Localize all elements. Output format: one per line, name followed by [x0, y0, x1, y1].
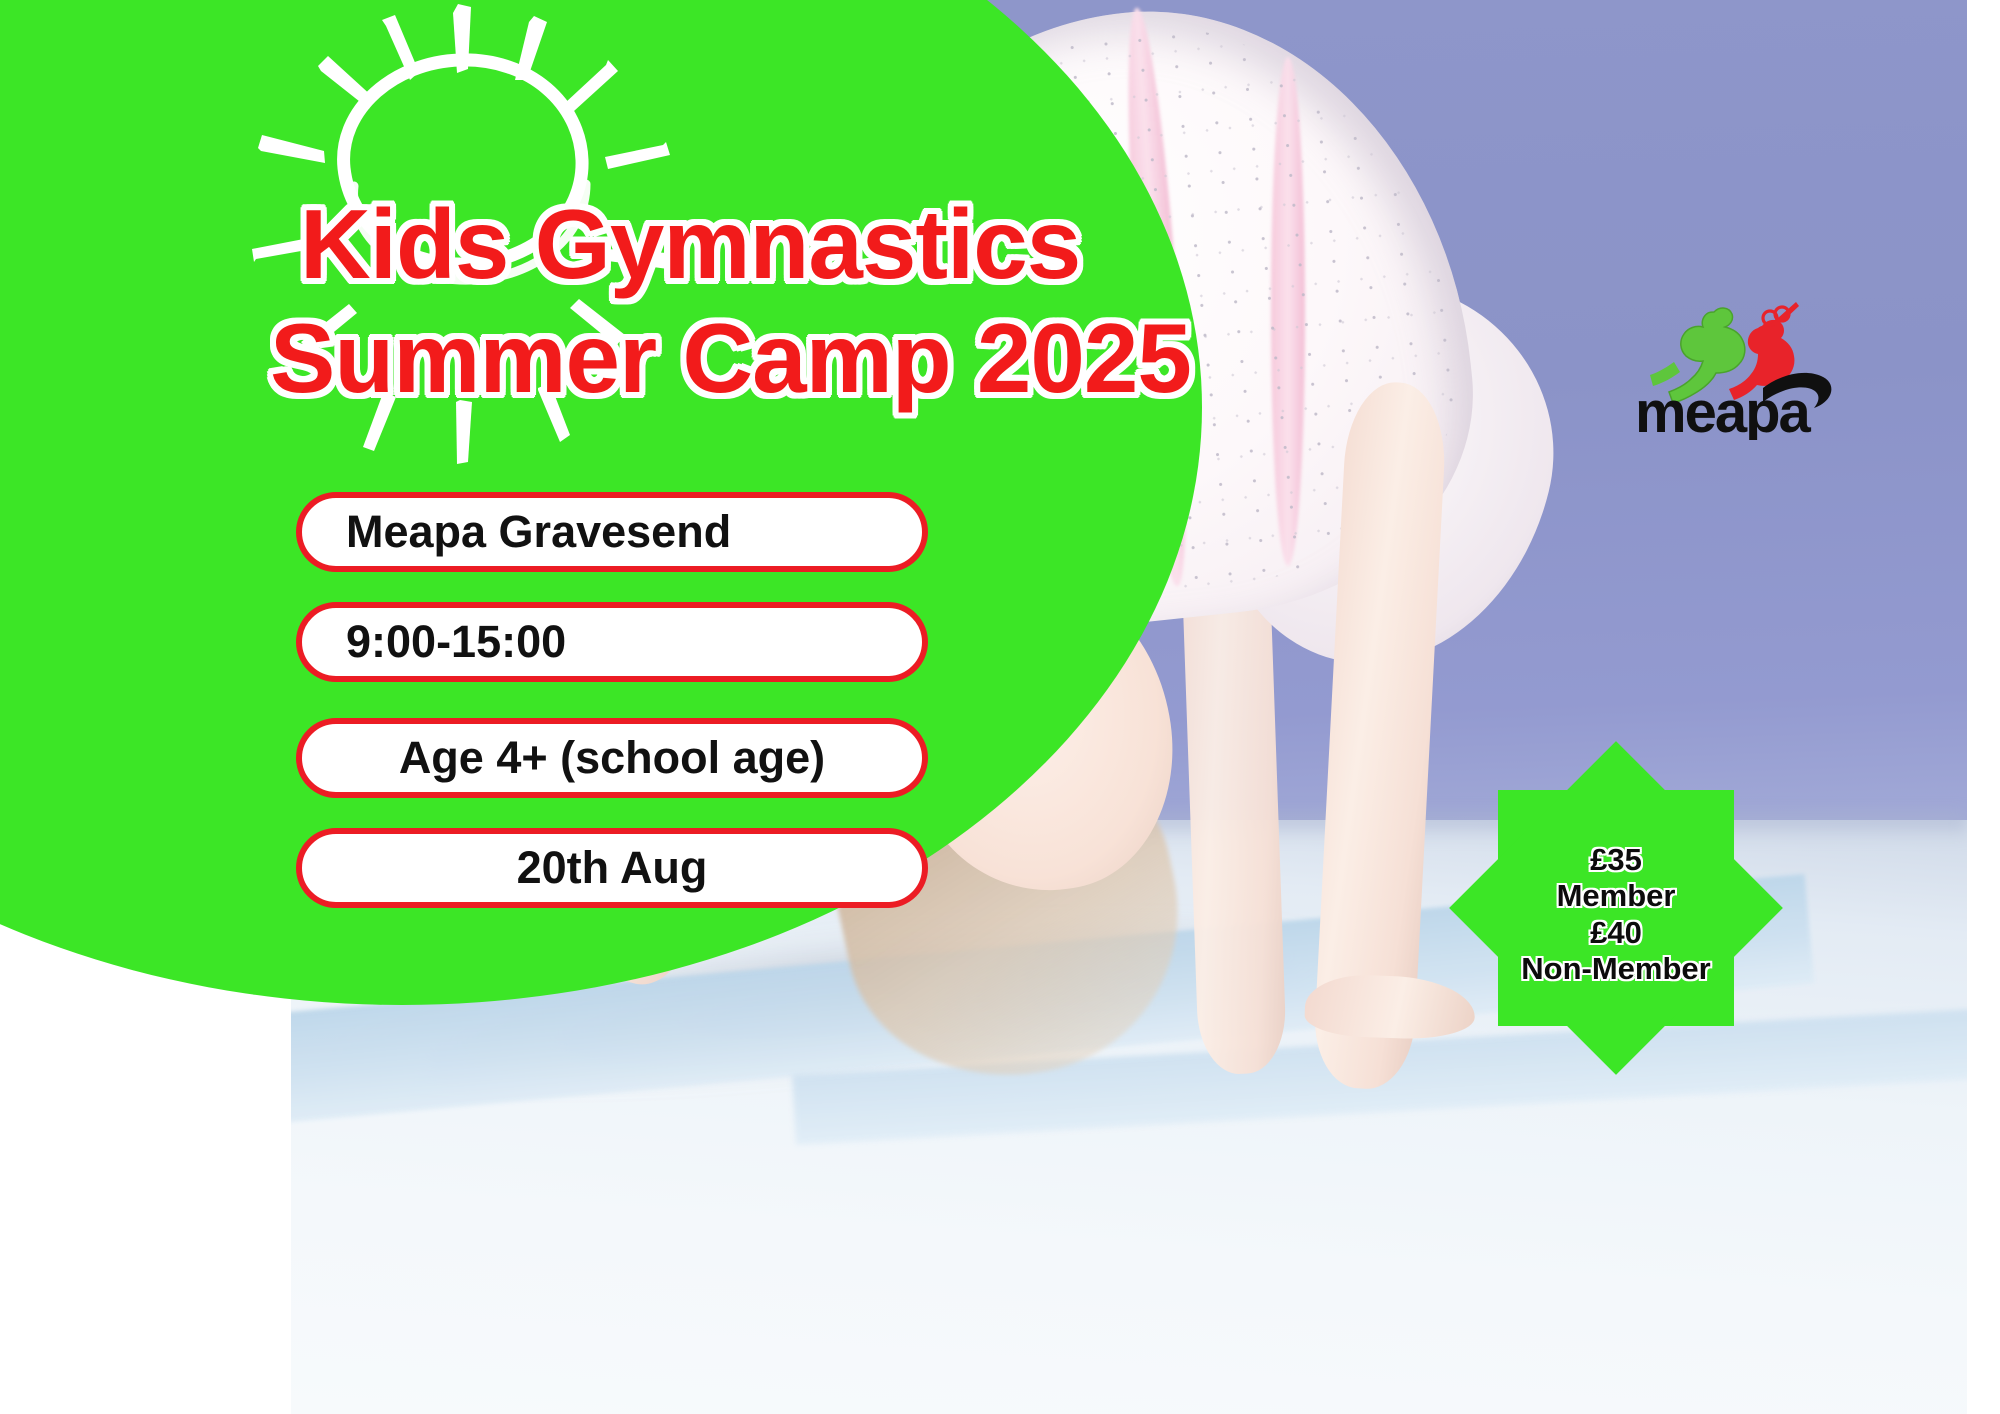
price-nonmember-amount: £40 [1474, 915, 1758, 951]
title-line-2: Summer Camp 2025 [270, 310, 1300, 406]
info-pill-age: Age 4+ (school age) [296, 718, 928, 798]
info-pill-date-label: 20th Aug [517, 842, 708, 894]
info-pill-date: 20th Aug [296, 828, 928, 908]
price-member-amount: £35 [1474, 842, 1758, 878]
meapa-logo: meapa [1630, 290, 1860, 440]
info-pill-location: Meapa Gravesend [296, 492, 928, 572]
price-member-label: Member [1474, 878, 1758, 914]
title-line-1: Kids Gymnastics [300, 196, 1300, 292]
price-nonmember-label: Non-Member [1474, 951, 1758, 987]
info-pill-age-label: Age 4+ (school age) [399, 732, 825, 784]
info-pill-location-label: Meapa Gravesend [346, 506, 731, 558]
price-badge-text: £35 Member £40 Non-Member [1474, 842, 1758, 987]
info-pill-time-label: 9:00-15:00 [346, 616, 566, 668]
poster-title: Kids Gymnastics Summer Camp 2025 [300, 196, 1300, 406]
poster-canvas: Kids Gymnastics Summer Camp 2025 Meapa G… [0, 0, 2000, 1414]
logo-wordmark: meapa [1635, 380, 1812, 440]
info-pill-time: 9:00-15:00 [296, 602, 928, 682]
gymnast-foot-right [1304, 973, 1476, 1041]
price-starburst-badge: £35 Member £40 Non-Member [1498, 790, 1734, 1026]
